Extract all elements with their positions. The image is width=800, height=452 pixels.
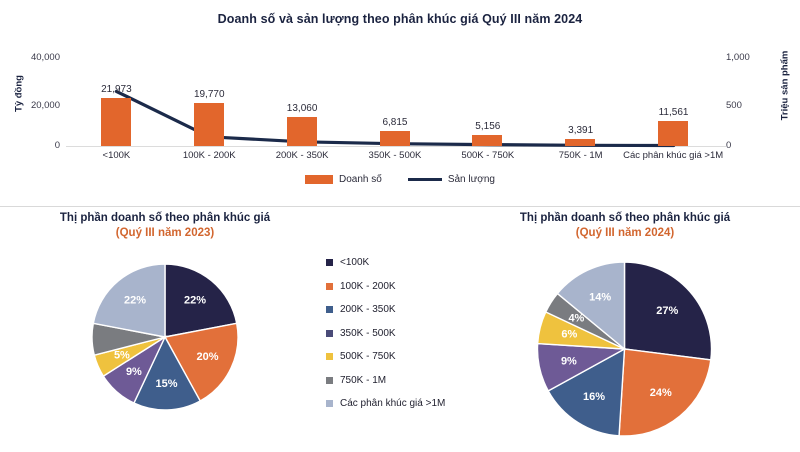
pie-legend-item-2[interactable]: 200K - 350K [326,304,476,315]
x-axis-label-2: 200K - 350K [256,150,349,161]
bar-value-label: 11,561 [627,107,720,118]
bar-value-label: 3,391 [534,125,627,136]
pie-slice-label-500K - 750K: 6% [561,329,577,341]
pie-2023-subtitle: (Quý III năm 2023) [0,226,330,241]
pie-legend-label: Các phân khúc giá >1M [340,398,445,409]
bar-value-label: 21,973 [70,84,163,95]
bar-200K - 350K[interactable] [287,117,317,146]
bar-swatch-icon [305,175,333,184]
bar-100K - 200K[interactable] [194,103,224,146]
bar-column[interactable]: 3,391 [534,58,627,146]
pie-2024-holder: 27%24%16%9%6%4%14% [460,241,790,431]
legend-swatch-icon [326,353,333,360]
combo-chart-title: Doanh số và sản lượng theo phân khúc giá… [0,12,800,26]
pies-panel: Thị phần doanh số theo phân khúc giá (Qu… [0,207,800,452]
left-axis-tick-40000: 40,000 [4,52,60,63]
bar-column[interactable]: 19,770 [163,58,256,146]
pie-2023-holder: 22%20%15%9%5%22% [0,241,330,431]
left-axis-tick-20000: 20,000 [4,100,60,111]
pie-chart-2023: Thị phần doanh số theo phân khúc giá (Qu… [0,211,330,431]
legend-swatch-icon [326,259,333,266]
right-axis-tick-0: 0 [726,140,776,151]
pie-legend-label: 500K - 750K [340,351,396,362]
pie-legend-item-3[interactable]: 350K - 500K [326,328,476,339]
bar-750K - 1M[interactable] [565,139,595,146]
pie-slice-label-<100K: 22% [184,295,206,307]
bar-Các phân khúc giá >1M[interactable] [658,121,688,146]
pie-slice-label-200K - 350K: 16% [583,391,605,403]
legend-swatch-icon [326,400,333,407]
pie-slice-label-500K - 750K: 5% [114,350,130,362]
legend-swatch-icon [326,306,333,313]
bar-value-label: 5,156 [441,121,534,132]
right-axis-tick-1000: 1,000 [726,52,776,63]
bar-column[interactable]: 21,973 [70,58,163,146]
pie-slice-label-<100K: 27% [656,305,678,317]
pie-2024-subtitle: (Quý III năm 2024) [460,226,790,241]
pie-legend-label: 200K - 350K [340,304,396,315]
pie-chart-2024: Thị phần doanh số theo phân khúc giá (Qu… [460,211,790,431]
pie-slice-label-350K - 500K: 9% [561,355,577,367]
pie-legend-item-1[interactable]: 100K - 200K [326,281,476,292]
left-axis-tick-0: 0 [4,140,60,151]
x-axis-label-0: <100K [70,150,163,161]
bar-value-label: 19,770 [163,89,256,100]
x-axis-label-3: 350K - 500K [349,150,442,161]
legend-swatch-icon [326,330,333,337]
legend-item-doanh-so[interactable]: Doanh số [305,174,382,185]
legend-label-san-luong: Sản lượng [448,174,495,185]
line-swatch-icon [408,178,442,181]
pie-2024-svg[interactable]: 27%24%16%9%6%4%14% [508,249,743,449]
legend-item-san-luong[interactable]: Sản lượng [408,174,495,185]
right-axis-tick-500: 500 [726,100,776,111]
pie-slice-label-Các phân khúc giá >1M: 22% [124,295,146,307]
bar-column[interactable]: 5,156 [441,58,534,146]
pie-legend-label: 100K - 200K [340,281,396,292]
bar-350K - 500K[interactable] [380,131,410,146]
pie-slice-label-350K - 500K: 9% [126,366,142,378]
bar-500K - 750K[interactable] [472,135,502,146]
x-axis-label-4: 500K - 750K [441,150,534,161]
legend-swatch-icon [326,377,333,384]
bar-column[interactable]: 13,060 [256,58,349,146]
legend-swatch-icon [326,283,333,290]
bar-column[interactable]: 6,815 [349,58,442,146]
x-axis-label-1: 100K - 200K [163,150,256,161]
x-axis-label-6: Các phân khúc giá >1M [613,150,733,161]
left-axis-label: Tỷ đồng [14,59,25,129]
combo-chart-panel: Doanh số và sản lượng theo phân khúc giá… [0,0,800,206]
pie-2023-svg[interactable]: 22%20%15%9%5%22% [65,249,265,424]
combo-plot-area: 21,97319,77013,0606,8155,1563,39111,561 [70,58,720,146]
bar-<100K[interactable] [101,98,131,146]
legend-label-doanh-so: Doanh số [339,174,382,185]
pie-2024-title: Thị phần doanh số theo phân khúc giá [460,211,790,226]
combo-legend: Doanh số Sản lượng [0,174,800,185]
pie-slice-label-200K - 350K: 15% [155,378,177,390]
pie-legend-item-4[interactable]: 500K - 750K [326,351,476,362]
pie-legend-label: 350K - 500K [340,328,396,339]
pie-slice-label-100K - 200K: 20% [196,351,218,363]
bar-column[interactable]: 11,561 [627,58,720,146]
pie-2023-title: Thị phần doanh số theo phân khúc giá [0,211,330,226]
pie-legend-item-0[interactable]: <100K [326,257,476,268]
combo-x-axis-labels: <100K100K - 200K200K - 350K350K - 500K50… [70,150,720,166]
pie-legend-item-6[interactable]: Các phân khúc giá >1M [326,398,476,409]
pie-legend-label: <100K [340,257,369,268]
shared-pie-legend: <100K100K - 200K200K - 350K350K - 500K50… [326,257,476,422]
pie-legend-item-5[interactable]: 750K - 1M [326,375,476,386]
pie-legend-label: 750K - 1M [340,375,386,386]
bar-value-label: 13,060 [256,103,349,114]
pie-slice-label-Các phân khúc giá >1M: 14% [589,291,611,303]
pie-slice-label-100K - 200K: 24% [650,387,672,399]
right-axis-label: Triệu sản phẩm [780,43,791,129]
bar-value-label: 6,815 [349,117,442,128]
